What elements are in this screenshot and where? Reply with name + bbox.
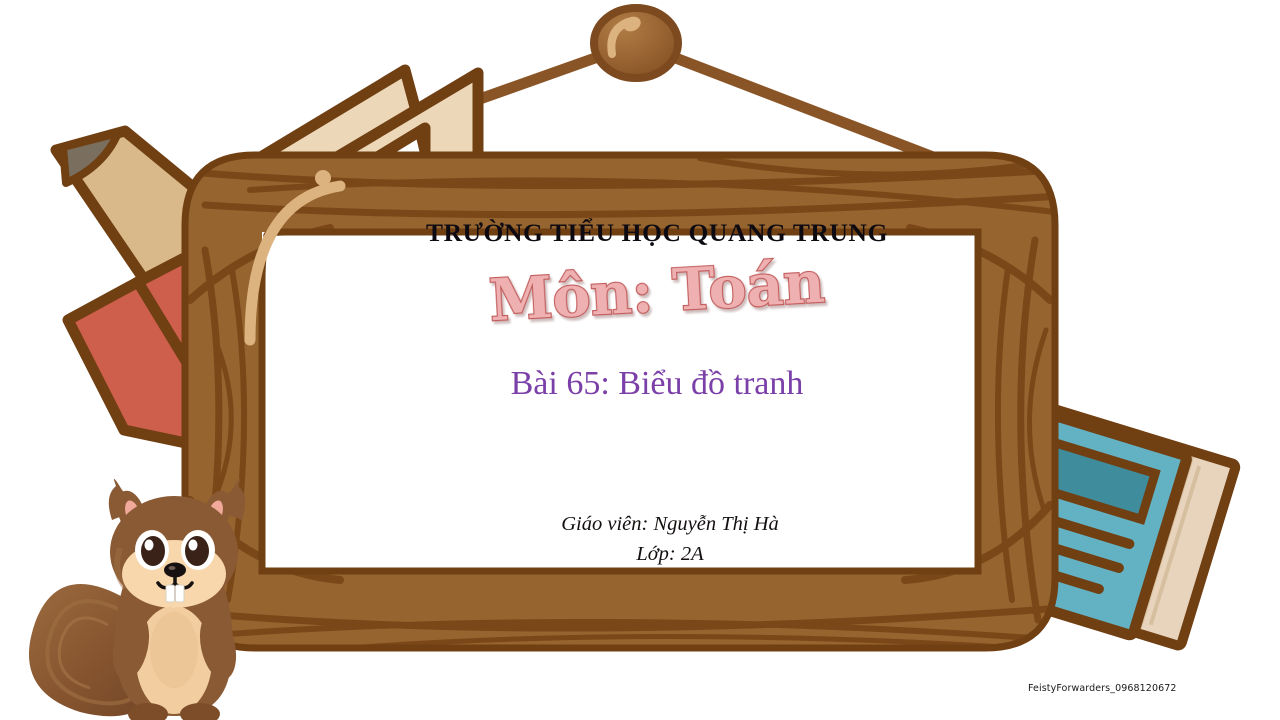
wood-frame xyxy=(185,155,1062,652)
slide-artwork xyxy=(0,0,1280,720)
hanger-knob xyxy=(594,8,678,78)
slide-canvas: TRƯỜNG TIỂU HỌC QUANG TRUNG Môn: Toán Bà… xyxy=(0,0,1280,720)
squirrel-mascot xyxy=(29,479,245,720)
